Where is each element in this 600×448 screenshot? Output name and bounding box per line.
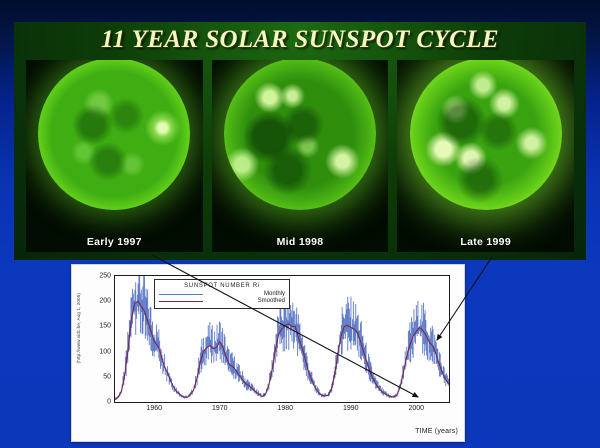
chart-x-tick: 1980: [277, 405, 293, 412]
legend-swatch-monthly: [159, 294, 203, 295]
solar-images-panel: 11 YEAR SOLAR SUNSPOT CYCLE <> Early 199…: [14, 22, 586, 260]
chart-y-tick: 150: [99, 323, 111, 330]
sun-image-early-1997[interactable]: Early 1997: [26, 60, 203, 252]
sun-image-mid-1998[interactable]: Mid 1998: [212, 60, 389, 252]
solar-disc-image: [224, 60, 376, 210]
chart-x-tick: 1960: [146, 405, 162, 412]
sun-image-strip: Early 1997 Mid 1998 Late 1999: [26, 60, 574, 252]
chart-x-tick: 1970: [212, 405, 228, 412]
chart-y-axis-label: (http://www.sidc.be, Aug 1, 2005): [76, 293, 81, 363]
chart-y-tick: 0: [107, 399, 111, 406]
chart-y-tick: 250: [99, 273, 111, 280]
chart-y-tick: 100: [99, 348, 111, 355]
solar-disc-image: [38, 60, 190, 210]
legend-item-monthly: Monthly: [159, 291, 285, 297]
sun-image-caption: Late 1999: [397, 236, 574, 248]
chart-x-tick: 1990: [343, 405, 359, 412]
sun-image-late-1999[interactable]: Late 1999: [397, 60, 574, 252]
legend-swatch-smoothed: [159, 301, 203, 302]
chart-y-tick: 50: [103, 373, 111, 380]
legend-label-monthly: Monthly: [207, 291, 285, 297]
legend-item-smoothed: Smoothed: [159, 298, 285, 304]
chart-x-axis-label: TIME (years): [415, 428, 458, 435]
sun-image-caption: Early 1997: [26, 236, 203, 248]
legend-label-smoothed: Smoothed: [207, 298, 285, 304]
legend-title: SUNSPOT NUMBER Ri: [159, 283, 285, 289]
chart-x-tick: 2000: [408, 405, 424, 412]
solar-disc-image: [410, 60, 562, 210]
chart-y-tick: 200: [99, 298, 111, 305]
sun-image-caption: Mid 1998: [212, 236, 389, 248]
sunspot-chart-panel: (http://www.sidc.be, Aug 1, 2005) 050100…: [71, 264, 465, 442]
page-title: 11 YEAR SOLAR SUNSPOT CYCLE: [14, 26, 586, 54]
chart-legend: SUNSPOT NUMBER Ri Monthly Smoothed: [154, 279, 290, 309]
slide-canvas: 11 YEAR SOLAR SUNSPOT CYCLE <> Early 199…: [0, 0, 600, 448]
